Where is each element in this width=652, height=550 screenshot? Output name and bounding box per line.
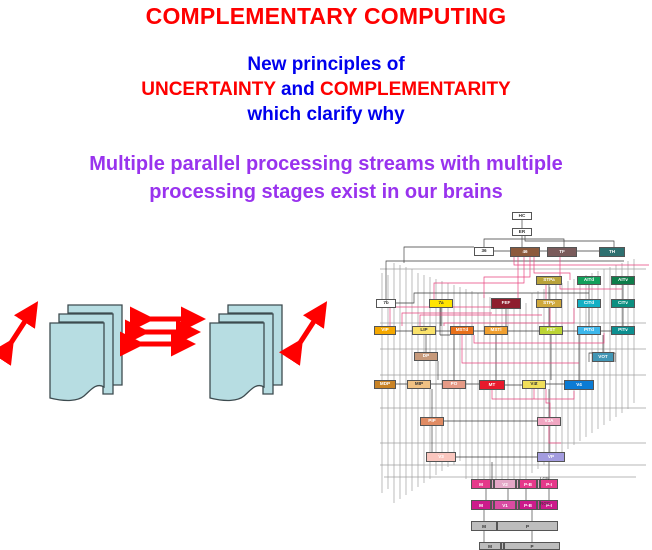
node-stpp[interactable]: STPp — [536, 299, 562, 308]
node-er[interactable]: ER — [512, 228, 532, 236]
node-po[interactable]: PO — [442, 380, 466, 389]
node-fef[interactable]: FEF — [491, 298, 521, 309]
node-tf[interactable]: TF — [547, 247, 577, 257]
node-vot[interactable]: VOT — [592, 352, 614, 362]
segment-p[interactable]: P — [497, 521, 558, 531]
segment-m[interactable]: M — [479, 542, 501, 550]
node-7b[interactable]: 7b — [376, 299, 396, 308]
node-lip[interactable]: LIP — [412, 326, 436, 335]
node-mip[interactable]: MIP — [407, 380, 431, 389]
side-label-rgc: RGC — [540, 501, 550, 506]
segment-m[interactable]: M — [471, 500, 491, 510]
segment-p-b[interactable]: P-B — [519, 479, 537, 489]
statement-line-2: processing stages exist in our brains — [0, 178, 652, 206]
node-dp[interactable]: DP — [414, 352, 438, 361]
row-lgn-row: MP — [471, 521, 558, 531]
node-pitd[interactable]: PITd — [577, 326, 601, 335]
subtitle-block: New principles of UNCERTAINTY and COMPLE… — [0, 52, 652, 127]
node-hc[interactable]: HC — [512, 212, 532, 220]
segment-v1[interactable]: V1 — [494, 500, 516, 510]
node-v3a[interactable]: V3A — [537, 417, 561, 426]
subtitle-complementarity: COMPLEMENTARITY — [320, 79, 511, 100]
node-v4[interactable]: V4 — [564, 380, 594, 390]
complementary-streams-illustration — [0, 280, 340, 430]
node-vp[interactable]: VP — [537, 452, 565, 462]
node-vip[interactable]: VIP — [374, 326, 396, 335]
segment-p-b[interactable]: P-B — [519, 500, 537, 510]
node-citd[interactable]: CITd — [577, 299, 601, 308]
subtitle-line-3: which clarify why — [0, 102, 652, 127]
row-rgc-row: MP — [479, 542, 560, 550]
node-46[interactable]: 46 — [510, 247, 540, 257]
node-36[interactable]: 36 — [474, 247, 494, 256]
node-fst[interactable]: FST — [539, 326, 563, 335]
segment-v2[interactable]: V2 — [494, 479, 516, 489]
node-v4t[interactable]: V4t — [522, 380, 546, 389]
diagonal-arrow-left — [7, 312, 31, 349]
node-7a[interactable]: 7a — [429, 299, 453, 308]
segment-m[interactable]: M — [471, 521, 497, 531]
node-mstd[interactable]: MSTd — [450, 326, 474, 335]
side-label-lgn: LGN — [540, 476, 549, 481]
slide-canvas: COMPLEMENTARY COMPUTING New principles o… — [0, 0, 652, 548]
node-citv[interactable]: CITv — [611, 299, 635, 308]
bidirectional-arrow-group — [132, 319, 193, 344]
segment-p[interactable]: P — [504, 542, 560, 550]
node-pip[interactable]: PIP — [420, 417, 444, 426]
node-aitv[interactable]: AITv — [611, 276, 635, 285]
statement-line-1: Multiple parallel processing streams wit… — [0, 150, 652, 178]
cortical-hierarchy-diagram: HCER3646TFTHSTPaAITdAITv7b7aFEFSTPpCITdC… — [374, 203, 652, 548]
subtitle-and: and — [276, 79, 320, 100]
node-mstl[interactable]: MSTl — [484, 326, 508, 335]
node-stpa[interactable]: STPa — [536, 276, 562, 285]
subtitle-line-2: UNCERTAINTY and COMPLEMENTARITY — [0, 77, 652, 102]
node-mt[interactable]: MT — [479, 380, 505, 390]
diagonal-arrow-right — [296, 312, 320, 349]
statement-block: Multiple parallel processing streams wit… — [0, 150, 652, 206]
node-th[interactable]: TH — [599, 247, 625, 257]
subtitle-uncertainty: UNCERTAINTY — [141, 79, 275, 100]
node-aitd[interactable]: AITd — [577, 276, 601, 285]
node-v3[interactable]: V3 — [426, 452, 456, 462]
page-title: COMPLEMENTARY COMPUTING — [0, 3, 652, 30]
subtitle-line-1: New principles of — [0, 52, 652, 77]
node-pitv[interactable]: PITv — [611, 326, 635, 335]
node-mdp[interactable]: MDP — [374, 380, 396, 389]
document-stack-right — [210, 305, 282, 400]
illustration-svg — [0, 280, 340, 430]
segment-m[interactable]: M — [471, 479, 491, 489]
document-stack-left — [50, 305, 122, 400]
